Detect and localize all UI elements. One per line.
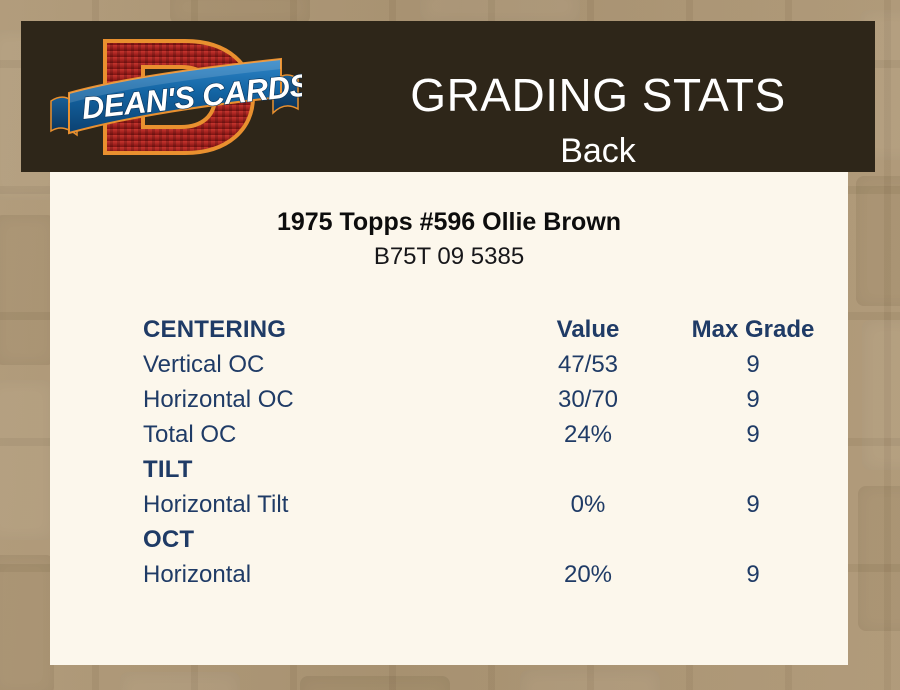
stat-value: 20% [513,557,663,592]
stat-value [513,522,663,557]
deans-cards-logo: DEAN'S CARDS [47,27,302,167]
table-row: OCT [143,522,843,557]
stat-label: Horizontal OC [143,382,513,417]
section-heading-oct: OCT [143,522,513,557]
stat-max-grade: 9 [663,557,843,592]
table-row: Total OC 24% 9 [143,417,843,452]
column-header-max-grade: Max Grade [663,312,843,347]
stat-max-grade: 9 [663,487,843,522]
card-code: B75T 09 5385 [50,242,848,272]
grading-stats-page: DEAN'S CARDS GRADING STATS Back 1975 Top… [0,0,900,690]
page-subtitle: Back [321,131,875,171]
stats-table-body: CENTERING Value Max Grade Vertical OC 47… [143,312,843,592]
table-row: CENTERING Value Max Grade [143,312,843,347]
stat-max-grade [663,452,843,487]
page-title: GRADING STATS [321,69,875,121]
table-row: Horizontal 20% 9 [143,557,843,592]
content-panel: 1975 Topps #596 Ollie Brown B75T 09 5385… [50,172,848,665]
stat-value: 47/53 [513,347,663,382]
stat-label: Total OC [143,417,513,452]
stat-max-grade: 9 [663,382,843,417]
stat-label: Vertical OC [143,347,513,382]
stat-max-grade: 9 [663,347,843,382]
stat-label: Horizontal Tilt [143,487,513,522]
stat-value: 30/70 [513,382,663,417]
stat-label: Horizontal [143,557,513,592]
table-row: Horizontal OC 30/70 9 [143,382,843,417]
stat-max-grade [663,522,843,557]
stat-value [513,452,663,487]
stat-value: 24% [513,417,663,452]
header-bar: DEAN'S CARDS GRADING STATS Back [21,21,875,172]
table-row: Vertical OC 47/53 9 [143,347,843,382]
section-heading-tilt: TILT [143,452,513,487]
grading-stats-table: CENTERING Value Max Grade Vertical OC 47… [143,312,843,592]
table-row: Horizontal Tilt 0% 9 [143,487,843,522]
stat-value: 0% [513,487,663,522]
section-heading-centering: CENTERING [143,312,513,347]
card-title: 1975 Topps #596 Ollie Brown [50,207,848,237]
stat-max-grade: 9 [663,417,843,452]
table-row: TILT [143,452,843,487]
column-header-value: Value [513,312,663,347]
